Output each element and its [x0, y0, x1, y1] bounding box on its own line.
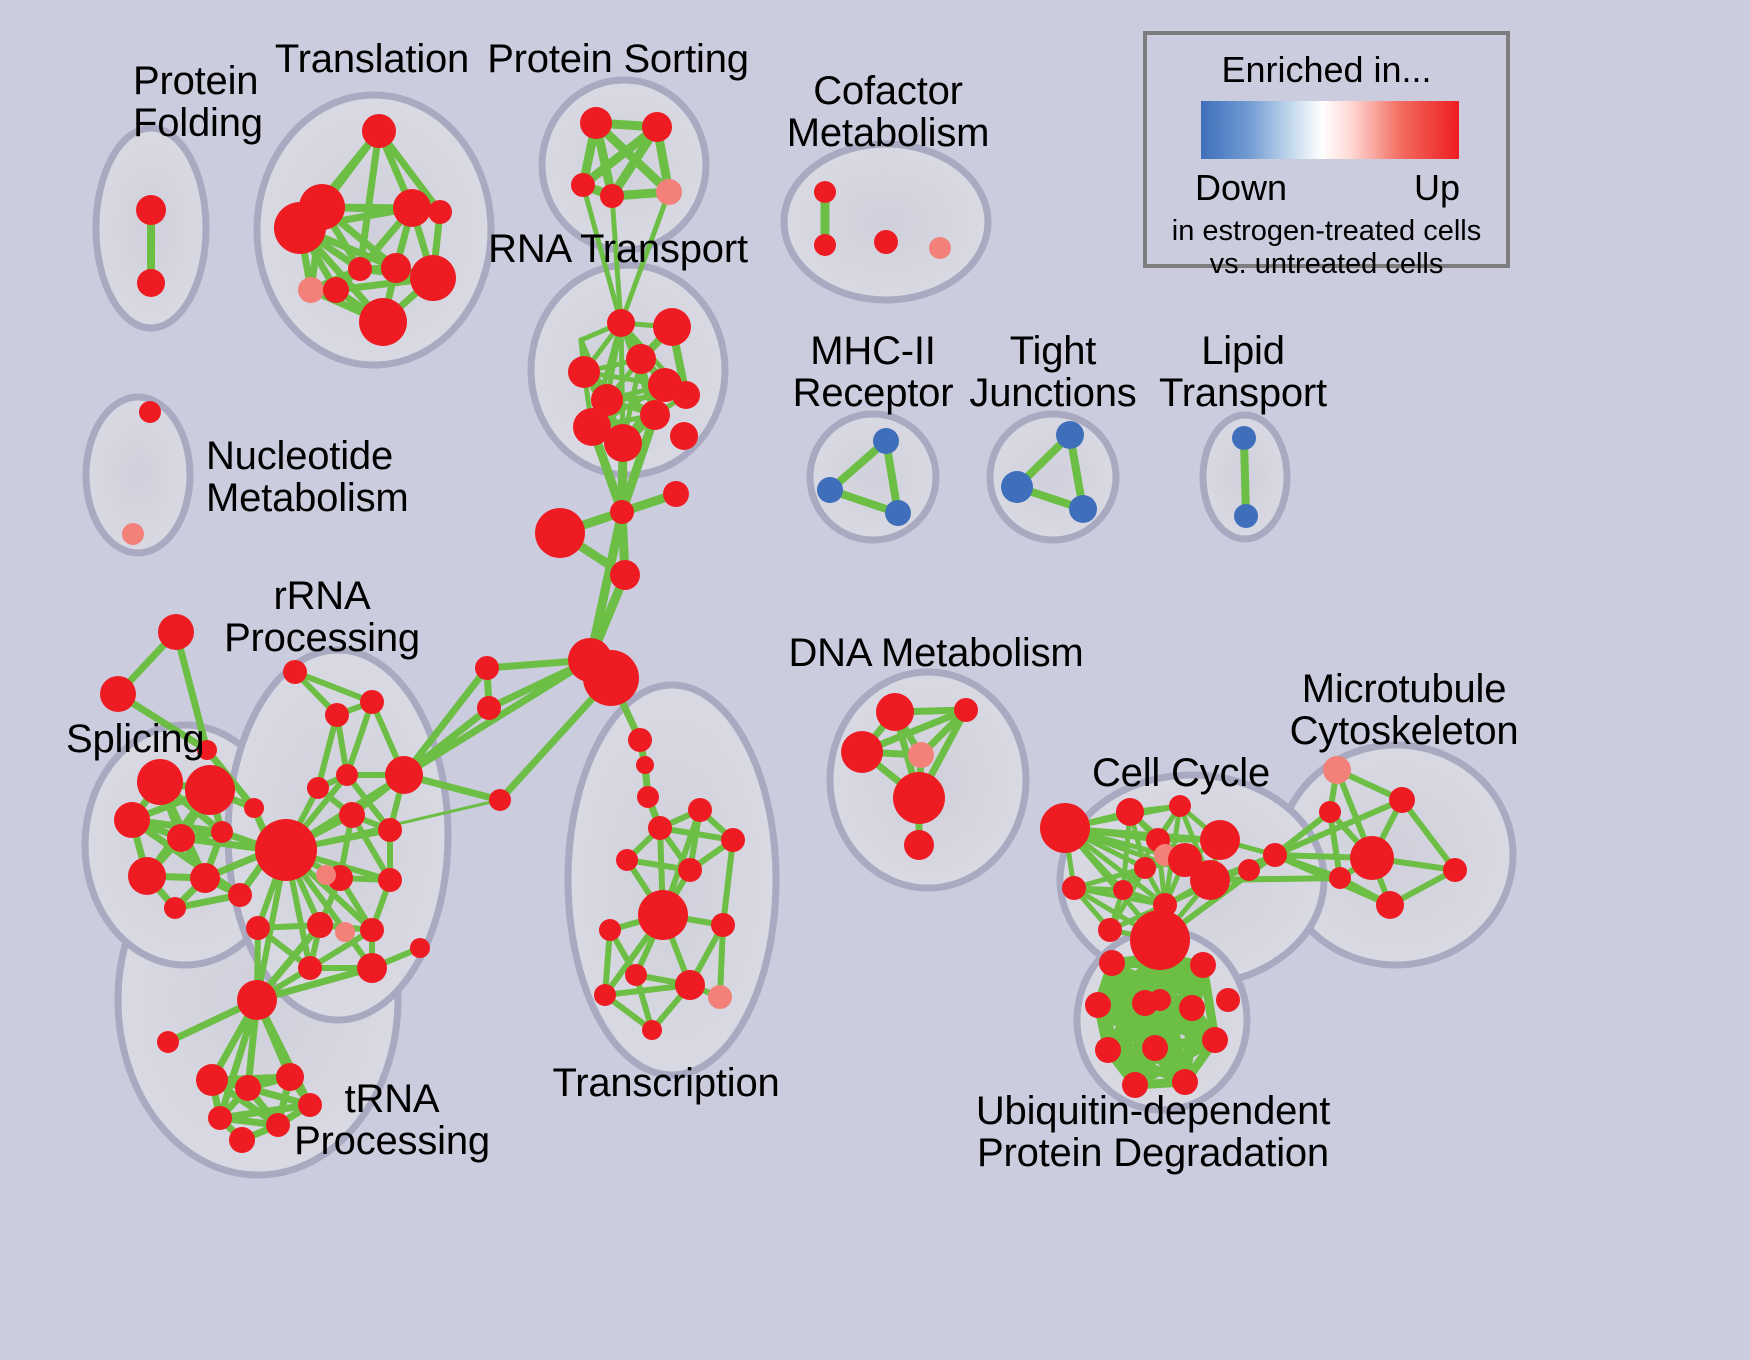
node	[428, 200, 452, 224]
node	[642, 1020, 662, 1040]
node	[626, 344, 656, 374]
node	[954, 698, 978, 722]
node	[359, 298, 407, 346]
node	[336, 764, 358, 786]
node	[316, 865, 336, 885]
node	[274, 202, 326, 254]
node	[1095, 1037, 1121, 1063]
legend-low-label: Down	[1195, 167, 1287, 209]
node	[196, 1064, 228, 1096]
node	[139, 401, 161, 423]
node	[335, 922, 355, 942]
cluster-ellipse-protein-sorting	[542, 80, 706, 250]
node	[841, 731, 883, 773]
node	[929, 237, 951, 259]
cluster-label-rna-transport: RNA Transport	[488, 228, 748, 270]
cluster-label-microtubule-cytoskeleton: Microtubule Cytoskeleton	[1290, 668, 1519, 753]
node	[607, 309, 635, 337]
node	[235, 1075, 261, 1101]
node	[266, 1113, 290, 1137]
node	[1216, 988, 1240, 1012]
node	[1001, 471, 1033, 503]
node	[908, 742, 934, 768]
node	[1116, 798, 1144, 826]
node	[1147, 944, 1173, 970]
node	[688, 798, 712, 822]
node	[360, 690, 384, 714]
cluster-label-splicing: Splicing	[66, 718, 204, 760]
node	[1099, 950, 1125, 976]
node	[642, 112, 672, 142]
cluster-label-dna-metabolism: DNA Metabolism	[788, 632, 1083, 674]
node	[1134, 857, 1156, 879]
node	[1202, 1027, 1228, 1053]
node	[1200, 820, 1240, 860]
node	[298, 956, 322, 980]
node	[228, 883, 252, 907]
node	[1323, 756, 1351, 784]
node	[137, 759, 183, 805]
cluster-label-trna-processing: tRNA Processing	[294, 1078, 490, 1163]
node	[1169, 795, 1191, 817]
cluster-label-protein-folding: Protein Folding	[133, 60, 263, 145]
node	[323, 277, 349, 303]
node	[362, 114, 396, 148]
node	[158, 614, 194, 650]
node	[893, 772, 945, 824]
node	[610, 560, 640, 590]
node	[583, 650, 639, 706]
node	[663, 481, 689, 507]
legend-caption-line-2: vs. untreated cells	[1147, 248, 1506, 281]
node	[410, 255, 456, 301]
node	[1132, 990, 1158, 1016]
node	[229, 1127, 255, 1153]
node	[348, 257, 372, 281]
node	[298, 277, 324, 303]
legend-panel: Enriched in... Down Up in estrogen-treat…	[1143, 31, 1510, 268]
node	[307, 912, 333, 938]
node	[1263, 843, 1287, 867]
node	[628, 728, 652, 752]
node	[283, 660, 307, 684]
node	[122, 523, 144, 545]
legend-caption-line-1: in estrogen-treated cells	[1147, 215, 1506, 248]
node	[475, 656, 499, 680]
node	[157, 1031, 179, 1053]
node	[255, 819, 317, 881]
node	[393, 189, 431, 227]
node	[678, 858, 702, 882]
node	[1389, 787, 1415, 813]
node	[211, 821, 233, 843]
node	[814, 234, 836, 256]
node	[1190, 952, 1216, 978]
node	[594, 984, 616, 1006]
node	[385, 756, 423, 794]
node	[137, 269, 165, 297]
node	[670, 422, 698, 450]
node	[378, 868, 402, 892]
node	[489, 789, 511, 811]
cluster-label-protein-sorting: Protein Sorting	[487, 38, 749, 80]
node	[114, 802, 150, 838]
node	[1190, 860, 1230, 900]
cluster-label-cell-cycle: Cell Cycle	[1092, 752, 1270, 794]
node	[360, 918, 384, 942]
node	[246, 916, 270, 940]
node	[1113, 880, 1133, 900]
node	[711, 913, 735, 937]
node	[307, 777, 329, 799]
node	[1069, 495, 1097, 523]
node	[873, 428, 899, 454]
node	[1329, 867, 1351, 889]
node	[1350, 836, 1394, 880]
node	[885, 500, 911, 526]
node	[571, 173, 595, 197]
node	[610, 500, 634, 524]
cluster-label-lipid-transport: Lipid Transport	[1159, 330, 1327, 415]
node	[616, 849, 638, 871]
cluster-label-ubiquitin-protein-degradation: Ubiquitin-dependent Protein Degradation	[976, 1090, 1330, 1175]
node	[636, 756, 654, 774]
node	[637, 786, 659, 808]
node	[653, 308, 691, 346]
node	[1234, 504, 1258, 528]
cluster-ellipse-transcription	[568, 685, 776, 1075]
node	[625, 964, 647, 986]
legend-high-label: Up	[1414, 167, 1460, 209]
node	[1376, 891, 1404, 919]
legend-title: Enriched in...	[1147, 49, 1506, 91]
node	[128, 857, 166, 895]
node	[381, 253, 411, 283]
cluster-label-rrna-processing: rRNA Processing	[224, 575, 420, 660]
node	[1056, 421, 1084, 449]
node	[357, 953, 387, 983]
cluster-label-transcription: Transcription	[552, 1062, 779, 1104]
node	[638, 890, 688, 940]
node	[190, 863, 220, 893]
cluster-label-tight-junctions: Tight Junctions	[969, 330, 1136, 415]
node	[904, 830, 934, 860]
cluster-ellipse-cofactor-metabolism	[784, 144, 988, 300]
node	[208, 1106, 232, 1130]
node	[708, 985, 732, 1009]
node	[1319, 801, 1341, 823]
node	[1142, 1035, 1168, 1061]
node	[237, 980, 277, 1020]
node	[1098, 918, 1122, 942]
node	[817, 477, 843, 503]
node	[167, 824, 195, 852]
node	[599, 919, 621, 941]
node	[1085, 992, 1111, 1018]
cluster-label-mhc-ii-receptor: MHC-II Receptor	[793, 330, 954, 415]
node	[1062, 876, 1086, 900]
node	[164, 897, 186, 919]
node	[378, 818, 402, 842]
node	[721, 828, 745, 852]
node	[600, 184, 624, 208]
node	[648, 816, 672, 840]
node	[640, 400, 670, 430]
cluster-label-translation: Translation	[275, 38, 469, 80]
node	[185, 765, 235, 815]
node	[1040, 803, 1090, 853]
node	[244, 798, 264, 818]
node	[604, 424, 642, 462]
cluster-label-cofactor-metabolism: Cofactor Metabolism	[787, 70, 990, 155]
node	[1179, 995, 1205, 1021]
node	[100, 676, 136, 712]
cluster-ellipse-mhc-ii-receptor	[810, 414, 936, 540]
cluster-label-nucleotide-metabolism: Nucleotide Metabolism	[206, 435, 409, 520]
node	[876, 693, 914, 731]
node	[672, 381, 700, 409]
node	[580, 107, 612, 139]
node	[325, 703, 349, 727]
node	[1232, 426, 1256, 450]
node	[136, 195, 166, 225]
node	[1443, 858, 1467, 882]
node	[656, 179, 682, 205]
node	[339, 802, 365, 828]
node	[874, 230, 898, 254]
legend-color-gradient-bar	[1201, 101, 1459, 159]
node	[814, 181, 836, 203]
node	[568, 356, 600, 388]
node	[410, 938, 430, 958]
network-figure: Protein Folding Translation Protein Sort…	[0, 0, 1750, 1360]
node	[535, 508, 585, 558]
node	[675, 970, 705, 1000]
node	[477, 696, 501, 720]
node	[1238, 859, 1260, 881]
